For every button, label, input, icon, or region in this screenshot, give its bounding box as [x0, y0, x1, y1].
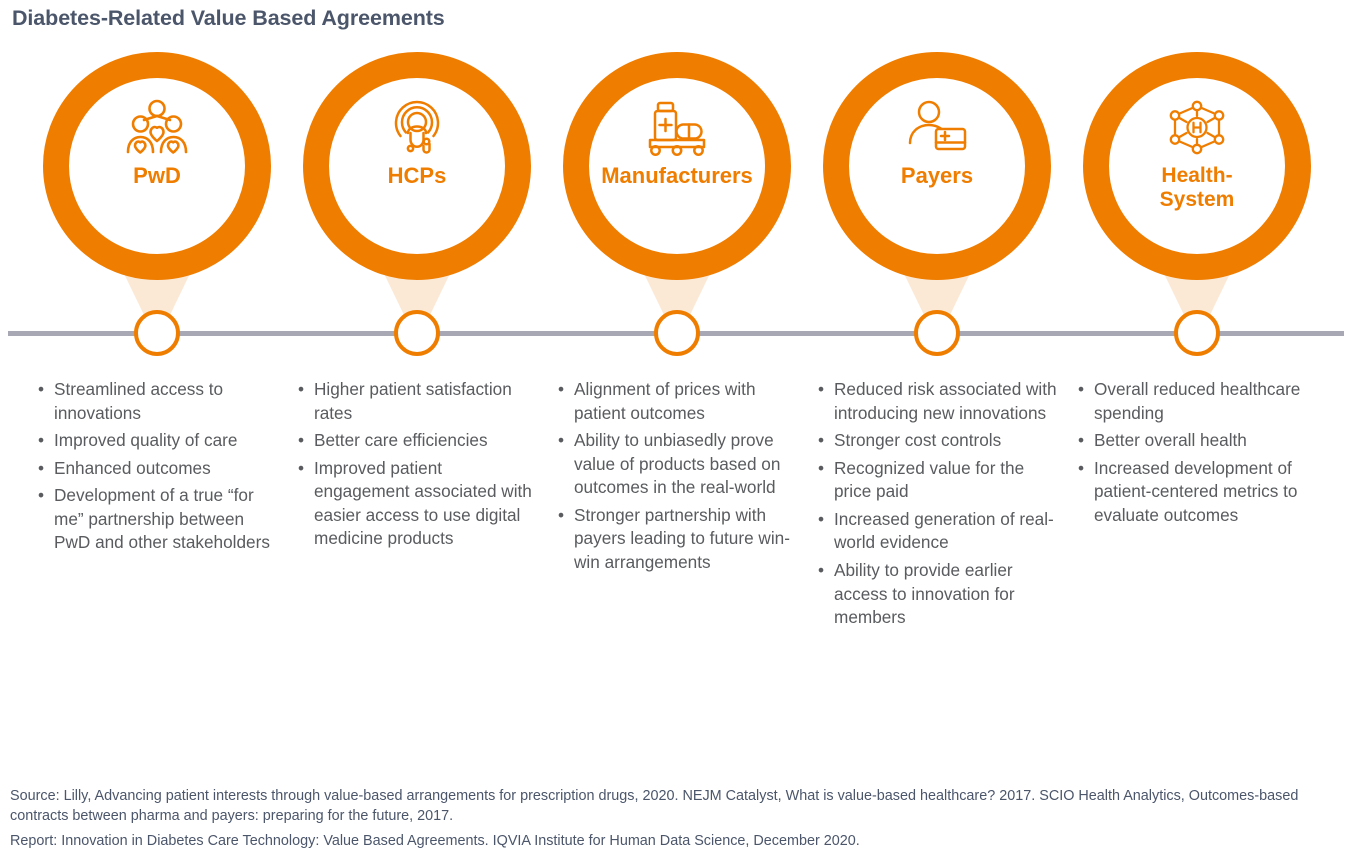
timeline-node-hcps[interactable]	[394, 310, 440, 356]
benefit-item: •Stronger partnership with payers leadin…	[553, 504, 801, 575]
clinician-stethoscope-target-icon	[388, 96, 446, 160]
bullet-dot-icon: •	[558, 429, 564, 453]
bullet-dot-icon: •	[558, 504, 564, 528]
timeline-node-payers[interactable]	[914, 310, 960, 356]
stakeholder-bubble-hcps[interactable]: HCPs	[303, 52, 531, 280]
pill-bottle-conveyor-icon	[644, 96, 710, 160]
benefit-item: •Recognized value for the price paid	[813, 457, 1061, 504]
stakeholder-label-health-system: Health- System	[1160, 164, 1235, 211]
bullet-dot-icon: •	[558, 378, 564, 402]
benefit-item: •Increased development of patient-center…	[1073, 457, 1321, 528]
benefit-item: •Development of a true “for me” partners…	[33, 484, 281, 555]
stakeholder-bubble-payers[interactable]: Payers	[823, 52, 1051, 280]
bullet-dot-icon: •	[818, 378, 824, 402]
timeline-node-pwd[interactable]	[134, 310, 180, 356]
benefits-column-manufacturers: •Alignment of prices with patient outcom…	[553, 378, 801, 579]
bullet-dot-icon: •	[38, 429, 44, 453]
stakeholder-bubble-health-system[interactable]: Health- System	[1083, 52, 1311, 280]
bullet-dot-icon: •	[38, 378, 44, 402]
benefits-list-hcps: •Higher patient satisfaction rates•Bette…	[293, 378, 541, 551]
benefits-column-health-system: •Overall reduced healthcare spending•Bet…	[1073, 378, 1321, 531]
benefits-column-payers: •Reduced risk associated with introducin…	[813, 378, 1061, 634]
benefit-item: •Better care efficiencies	[293, 429, 541, 453]
benefit-item: •Streamlined access to innovations	[33, 378, 281, 425]
bullet-dot-icon: •	[1078, 429, 1084, 453]
benefit-item: •Enhanced outcomes	[33, 457, 281, 481]
family-group-hearts-icon	[126, 96, 188, 160]
timeline-node-health-system[interactable]	[1174, 310, 1220, 356]
benefit-item: •Ability to unbiasedly prove value of pr…	[553, 429, 801, 500]
benefits-list-health-system: •Overall reduced healthcare spending•Bet…	[1073, 378, 1321, 527]
bullet-dot-icon: •	[38, 484, 44, 508]
benefits-list-pwd: •Streamlined access to innovations•Impro…	[33, 378, 281, 555]
stakeholder-bubble-manufacturers[interactable]: Manufacturers	[563, 52, 791, 280]
benefit-item: •Ability to provide earlier access to in…	[813, 559, 1061, 630]
source-footnote: Source: Lilly, Advancing patient interes…	[10, 786, 1340, 827]
benefit-item: •Higher patient satisfaction rates	[293, 378, 541, 425]
benefit-item: •Alignment of prices with patient outcom…	[553, 378, 801, 425]
report-footnote: Report: Innovation in Diabetes Care Tech…	[10, 831, 1340, 851]
benefit-item: •Improved patient engagement associated …	[293, 457, 541, 551]
bullet-dot-icon: •	[38, 457, 44, 481]
page-title: Diabetes-Related Value Based Agreements	[12, 6, 445, 31]
bullet-dot-icon: •	[818, 457, 824, 481]
stakeholder-label-payers: Payers	[901, 164, 973, 189]
benefit-item: •Overall reduced healthcare spending	[1073, 378, 1321, 425]
hexagon-network-hospital-icon	[1166, 96, 1228, 160]
benefits-column-pwd: •Streamlined access to innovations•Impro…	[33, 378, 281, 559]
bullet-dot-icon: •	[818, 559, 824, 583]
stakeholder-label-hcps: HCPs	[388, 164, 447, 189]
stakeholder-bubble-pwd[interactable]: PwD	[43, 52, 271, 280]
timeline-node-manufacturers[interactable]	[654, 310, 700, 356]
infographic-page: Diabetes-Related Value Based Agreements …	[0, 0, 1352, 865]
bullet-dot-icon: •	[818, 508, 824, 532]
stakeholder-label-pwd: PwD	[133, 164, 181, 189]
benefit-item: •Stronger cost controls	[813, 429, 1061, 453]
bullet-dot-icon: •	[298, 429, 304, 453]
bullet-dot-icon: •	[1078, 457, 1084, 481]
person-insurance-card-icon	[907, 96, 967, 160]
bullet-dot-icon: •	[1078, 378, 1084, 402]
benefits-list-manufacturers: •Alignment of prices with patient outcom…	[553, 378, 801, 575]
benefit-item: •Increased generation of real-world evid…	[813, 508, 1061, 555]
bullet-dot-icon: •	[298, 457, 304, 481]
benefit-item: •Better overall health	[1073, 429, 1321, 453]
benefits-list-payers: •Reduced risk associated with introducin…	[813, 378, 1061, 630]
benefit-item: •Improved quality of care	[33, 429, 281, 453]
stakeholder-label-manufacturers: Manufacturers	[601, 164, 753, 189]
benefits-column-hcps: •Higher patient satisfaction rates•Bette…	[293, 378, 541, 555]
bullet-dot-icon: •	[298, 378, 304, 402]
benefit-item: •Reduced risk associated with introducin…	[813, 378, 1061, 425]
bullet-dot-icon: •	[818, 429, 824, 453]
